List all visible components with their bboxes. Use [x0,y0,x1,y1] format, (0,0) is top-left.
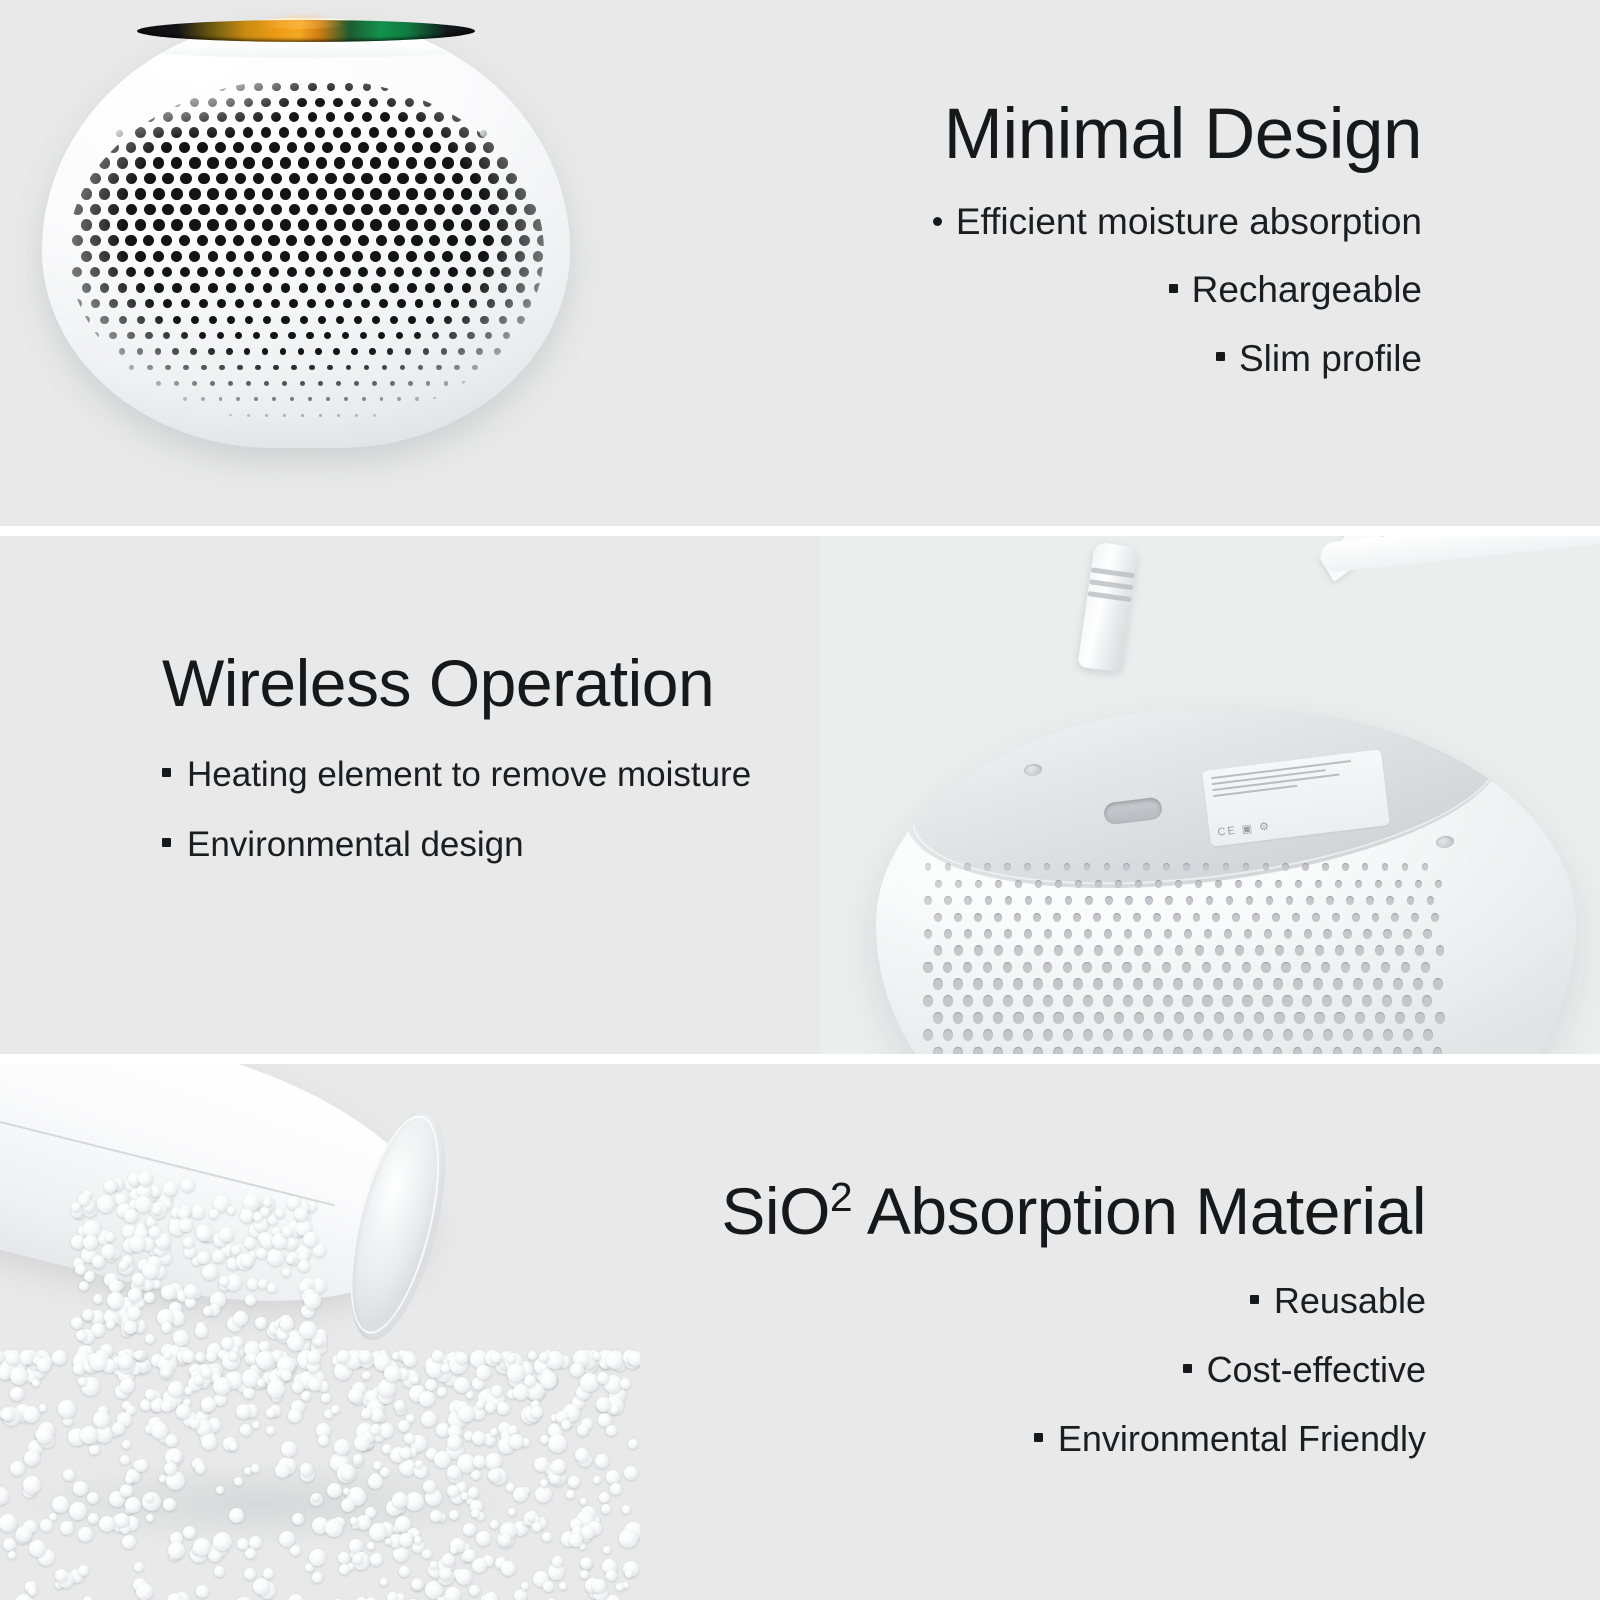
dehumidifier-charging-cable-image: CE ▣ ⚙ [820,536,1600,1056]
bullet-square-icon [1216,352,1225,361]
list-item: Slim profile [933,325,1422,393]
device-shell [42,18,570,448]
list-item: Environmental design [162,810,751,880]
indicator-light-bar [137,20,475,42]
heading-part-after: Absorption Material [853,1174,1426,1248]
screw-hole-right [480,130,487,137]
perforation-grid [918,858,1562,1056]
list-item: Cost-effective [721,1335,1426,1404]
list-item: Rechargeable [933,256,1422,324]
list-item: Efficient moisture absorption [933,188,1422,256]
panel-minimal-design: Minimal Design Efficient moisture absorp… [0,0,1600,528]
screw-hole-right [1435,835,1454,849]
heading-part-before: SiO [721,1174,830,1248]
silica-bead-field [0,1064,640,1600]
bullet-square-icon [1169,284,1178,293]
bullet-label: Environmental Friendly [1058,1418,1426,1459]
bullet-label: Slim profile [1239,338,1422,379]
dehumidifier-front-view-image [42,18,570,448]
bullet-dot-icon [933,217,942,226]
list-item: Reusable [721,1266,1426,1335]
bullet-label: Cost-effective [1207,1349,1426,1390]
panel-sio2-absorption-material: SiO2 Absorption Material Reusable Cost-e… [0,1064,1600,1600]
panel-1-heading: Minimal Design [933,98,1422,172]
bullet-label: Reusable [1274,1280,1426,1321]
heading-superscript: 2 [830,1174,853,1220]
screw-hole-left [116,130,123,137]
panel-divider-1 [0,526,1600,536]
bullet-square-icon [1183,1364,1192,1373]
silica-gel-beads-image [0,1064,640,1600]
bullet-square-icon [162,768,171,777]
panel-3-heading: SiO2 Absorption Material [721,1176,1426,1246]
bullet-label: Environmental design [187,825,524,864]
bullet-square-icon [1250,1295,1259,1304]
panel-2-text-block: Wireless Operation Heating element to re… [162,649,751,880]
panel-2-heading: Wireless Operation [162,649,751,718]
panel-1-bullet-list: Efficient moisture absorption Rechargeab… [933,188,1422,393]
bullet-square-icon [1034,1433,1043,1442]
panel-2-bullet-list: Heating element to remove moisture Envir… [162,740,751,880]
bullet-square-icon [162,838,171,847]
list-item: Heating element to remove moisture [162,740,751,810]
list-item: Environmental Friendly [721,1404,1426,1473]
bullet-label: Heating element to remove moisture [187,755,751,794]
perforation-grid [68,78,543,422]
bullet-label: Rechargeable [1192,269,1422,310]
device-shell-angled: CE ▣ ⚙ [876,708,1576,1056]
panel-3-bullet-list: Reusable Cost-effective Environmental Fr… [721,1266,1426,1473]
product-feature-infographic: Minimal Design Efficient moisture absorp… [0,0,1600,1600]
panel-3-text-block: SiO2 Absorption Material Reusable Cost-e… [721,1176,1426,1473]
panel-divider-2 [0,1054,1600,1064]
panel-1-text-block: Minimal Design Efficient moisture absorp… [933,98,1422,393]
bullet-label: Efficient moisture absorption [956,201,1422,242]
panel-wireless-operation: CE ▣ ⚙ Wireless Operation Heating elemen… [0,536,1600,1056]
certification-marks: CE ▣ ⚙ [1217,819,1272,838]
